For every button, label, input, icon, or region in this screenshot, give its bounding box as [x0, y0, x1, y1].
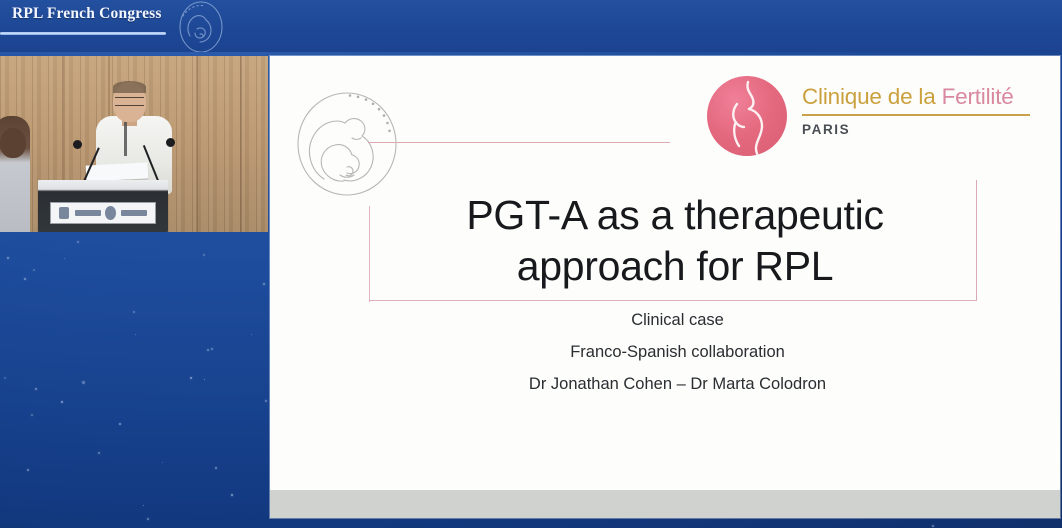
- audience-member-head: [0, 128, 26, 158]
- slide-footer-band: [270, 490, 1060, 518]
- speaker-hair: [113, 81, 146, 93]
- pregnant-woman-silhouette-icon: [707, 76, 787, 156]
- speaker-notes-paper: [86, 162, 149, 181]
- decorative-rule-bottom: [369, 300, 977, 301]
- slide-title-line-1: PGT-A as a therapeutic: [380, 190, 970, 241]
- congress-mother-child-emblem-icon: [170, 0, 232, 52]
- slide-subtitle-3: Dr Jonathan Cohen – Dr Marta Colodron: [380, 368, 975, 400]
- slide-title: PGT-A as a therapeutic approach for RPL: [380, 190, 970, 292]
- decorative-rule-top: [368, 142, 670, 143]
- presentation-slide[interactable]: Clinique de la Fertilité PARIS PGT-A as …: [270, 56, 1060, 518]
- presentation-stage: RPL French Congress: [0, 0, 1062, 528]
- slide-title-line-2: approach for RPL: [380, 241, 970, 292]
- clinic-name: Clinique de la Fertilité: [802, 86, 1034, 109]
- wall-seam: [240, 56, 242, 232]
- wall-seam: [196, 56, 198, 232]
- slide-subtitle-1: Clinical case: [380, 304, 975, 336]
- slide-subtitle-2: Franco-Spanish collaboration: [380, 336, 975, 368]
- microphone-head: [73, 140, 82, 149]
- slide-subtitles: Clinical case Franco-Spanish collaborati…: [380, 304, 975, 400]
- lectern-sponsor-plate: [50, 202, 156, 224]
- decorative-rule-right: [976, 180, 977, 301]
- header-underline: [0, 32, 166, 35]
- clinic-city: PARIS: [802, 122, 1034, 137]
- clinic-name-part-1: Clinique de la: [802, 84, 936, 109]
- clinic-name-underline: [802, 114, 1030, 116]
- speaker-video-feed[interactable]: [0, 56, 268, 232]
- speaker-glasses: [115, 97, 144, 106]
- speaker-lanyard: [124, 122, 127, 156]
- page-title: RPL French Congress: [12, 5, 162, 23]
- clinic-logo: Clinique de la Fertilité PARIS: [707, 72, 1037, 168]
- header-bar: RPL French Congress: [0, 0, 1062, 52]
- decorative-rule-left: [369, 206, 370, 302]
- microphone-head: [166, 138, 175, 147]
- clinic-name-part-2: Fertilité: [942, 84, 1014, 109]
